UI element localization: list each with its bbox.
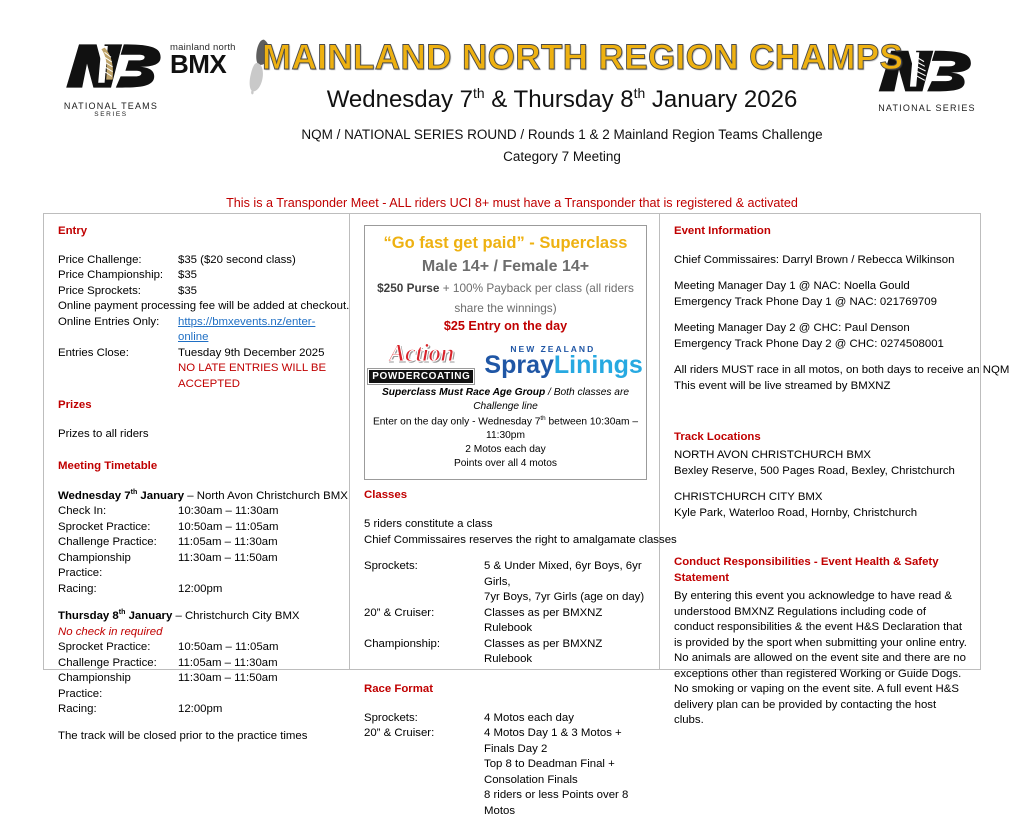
online-entries-row: Online Entries Only: https://bmxevents.n… [58, 315, 337, 346]
race-format-heading: Race Format [364, 682, 647, 698]
superclass-rule-line1: Superclass Must Race Age Group / Both cl… [371, 386, 640, 414]
classes-row: Sprockets: 5 & Under Mixed, 6yr Boys, 6y… [364, 559, 647, 590]
spray-word: Spray [484, 351, 553, 379]
superclass-rule-line3: 2 Motos each day [371, 443, 640, 457]
classes-row: 7yr Boys, 7yr Girls (age on day) [364, 590, 647, 606]
conduct-body: By entering this event you acknowledge t… [674, 589, 968, 729]
classes-row: 20” & Cruiser: Classes as per BMXNZ Rule… [364, 606, 647, 637]
no-late-entries-note: NO LATE ENTRIES WILL BE ACCEPTED [58, 361, 337, 392]
entries-close-label: Entries Close: [58, 346, 178, 362]
action-powdercoating-wordmark: Action [368, 341, 474, 366]
price-challenge-value: $35 ($20 second class) [178, 253, 337, 269]
superclass-rule-line4: Points over all 4 motos [371, 457, 640, 471]
race-format-row: 20” & Cruiser: 4 Motos Day 1 & 3 Motos +… [364, 726, 647, 757]
price-sprockets-value: $35 [178, 284, 337, 300]
day1-challenge-practice-label: Challenge Practice: [58, 535, 178, 551]
classes-row: Championship: Classes as per BMXNZ Ruleb… [364, 637, 647, 668]
linings-word: Linings [554, 351, 643, 379]
online-entries-link[interactable]: https://bmxevents.nz/enter-online [178, 315, 337, 346]
column-superclass-classes: “Go fast get paid” - Superclass Male 14+… [350, 214, 660, 669]
classes-cruiser-label: 20” & Cruiser: [364, 606, 484, 637]
timetable-row: Check In: 10:30am – 11:30am [58, 504, 337, 520]
day2-championship-practice-label: Championship Practice: [58, 671, 178, 702]
prizes-text: Prizes to all riders [58, 427, 337, 443]
day2-heading: Thursday 8th January – Christchurch City… [58, 608, 337, 624]
timetable-row: Sprocket Practice: 10:50am – 11:05am [58, 640, 337, 656]
chief-commissaires: Chief Commissaires: Darryl Brown / Rebec… [674, 253, 968, 269]
price-challenge-label: Price Challenge: [58, 253, 178, 269]
race-format-row: Top 8 to Deadman Final + Consolation Fin… [364, 757, 647, 788]
day2-challenge-practice-label: Challenge Practice: [58, 656, 178, 672]
entry-heading: Entry [58, 224, 337, 240]
track-locations-heading: Track Locations [674, 430, 968, 446]
nqm-note: All riders MUST race in all motos, on bo… [674, 363, 968, 379]
ns-logo-text: NATIONAL SERIES [868, 103, 986, 113]
day1-challenge-practice-value: 11:05am – 11:30am [178, 535, 337, 551]
event-subtitle-line2: Category 7 Meeting [262, 147, 862, 167]
day1-championship-practice-label: Championship Practice: [58, 551, 178, 582]
timetable-heading: Meeting Timetable [58, 459, 337, 475]
livestream-note: This event will be live streamed by BMXN… [674, 379, 968, 395]
timetable-row: Championship Practice: 11:30am – 11:50am [58, 551, 337, 582]
info-table: Entry Price Challenge: $35 ($20 second c… [43, 213, 981, 670]
timetable-row: Sprocket Practice: 10:50am – 11:05am [58, 520, 337, 536]
day2-championship-practice-value: 11:30am – 11:50am [178, 671, 337, 702]
nts-monogram-icon [55, 38, 167, 94]
track1-name: NORTH AVON CHRISTCHURCH BMX [674, 448, 968, 464]
title-block: MAINLAND NORTH REGION CHAMPS Wednesday 7… [262, 40, 862, 166]
classes-sprockets-value-cont: 7yr Boys, 7yr Girls (age on day) [484, 590, 647, 606]
event-dates: Wednesday 7th & Thursday 8th January 202… [262, 85, 862, 114]
day1-championship-practice-value: 11:30am – 11:50am [178, 551, 337, 582]
page-title: MAINLAND NORTH REGION CHAMPS [262, 40, 862, 77]
classes-championship-label: Championship: [364, 637, 484, 668]
event-date-post: January 2026 [645, 86, 797, 113]
sponsor-logos: Action POWDERCOATING NEW ZEALAND SprayLi… [371, 340, 640, 382]
track2-address: Kyle Park, Waterloo Road, Hornby, Christ… [674, 506, 968, 522]
superclass-enter-pre: Enter on the day only - Wednesday 7 [373, 416, 540, 427]
superclass-purse: $250 Purse + 100% Payback per class (all… [371, 281, 640, 296]
event-date-sup1: th [473, 85, 485, 101]
price-sprockets-label: Price Sprockets: [58, 284, 178, 300]
day2-racing-label: Racing: [58, 702, 178, 718]
race-format-value-cont2: 8 riders or less Points over 8 Motos [484, 788, 647, 819]
event-date-sup2: th [634, 85, 646, 101]
track1-address: Bexley Reserve, 500 Pages Road, Bexley, … [674, 464, 968, 480]
classes-line2: Chief Commissaires reserves the right to… [364, 533, 647, 549]
emergency-phone-day1: Emergency Track Phone Day 1 @ NAC: 02176… [674, 295, 968, 311]
nts-logo-text-line1: NATIONAL TEAMS [55, 101, 167, 111]
spray-linings-wordmark: SprayLinings [484, 354, 642, 378]
timetable-row: Challenge Practice: 11:05am – 11:30am [58, 535, 337, 551]
entries-close-row: Entries Close: Tuesday 9th December 2025 [58, 346, 337, 362]
day1-label-post: January [137, 490, 184, 502]
payment-fee-note: Online payment processing fee will be ad… [58, 299, 337, 315]
race-format-row: 8 riders or less Points over 8 Motos [364, 788, 647, 819]
action-powdercoating-subtext: POWDERCOATING [368, 369, 474, 384]
mainland-north-bmx-logo: mainland north BMX [170, 42, 262, 108]
meeting-manager-day1: Meeting Manager Day 1 @ NAC: Noella Goul… [674, 279, 968, 295]
day2-sprocket-practice-value: 10:50am – 11:05am [178, 640, 337, 656]
entry-row: Price Challenge: $35 ($20 second class) [58, 253, 337, 269]
emergency-phone-day2: Emergency Track Phone Day 2 @ CHC: 02745… [674, 337, 968, 353]
race-format-cruiser-label: 20” & Cruiser: [364, 726, 484, 757]
nts-logo-text-line2: SERIES [55, 111, 167, 118]
day2-venue: – Christchurch City BMX [172, 610, 299, 622]
day1-sprocket-practice-value: 10:50am – 11:05am [178, 520, 337, 536]
classes-cruiser-value: Classes as per BMXNZ Rulebook [484, 606, 647, 637]
flyer-page: NATIONAL TEAMS SERIES mainland north BMX [0, 0, 1024, 724]
timetable-row: Championship Practice: 11:30am – 11:50am [58, 671, 337, 702]
superclass-entry-fee: $25 Entry on the day [371, 318, 640, 334]
day1-checkin-value: 10:30am – 11:30am [178, 504, 337, 520]
race-format-cruiser-value: 4 Motos Day 1 & 3 Motos + Finals Day 2 [484, 726, 647, 757]
timetable-row: Challenge Practice: 11:05am – 11:30am [58, 656, 337, 672]
classes-sprockets-label-cont [364, 590, 484, 606]
classes-sprockets-value: 5 & Under Mixed, 6yr Boys, 6yr Girls, [484, 559, 647, 590]
day2-label-post: January [125, 610, 172, 622]
classes-championship-value: Classes as per BMXNZ Rulebook [484, 637, 647, 668]
price-championship-label: Price Championship: [58, 268, 178, 284]
prizes-heading: Prizes [58, 398, 337, 414]
day2-label-pre: Thursday 8 [58, 610, 119, 622]
entries-close-value: Tuesday 9th December 2025 [178, 346, 337, 362]
national-teams-series-logo: NATIONAL TEAMS SERIES [55, 38, 167, 120]
day1-sprocket-practice-label: Sprocket Practice: [58, 520, 178, 536]
superclass-purse-rest: + 100% Payback per class (all riders [439, 281, 633, 295]
event-date-mid: & Thursday 8 [485, 86, 634, 113]
superclass-purse-amount: $250 Purse [377, 281, 439, 295]
day2-no-checkin-note: No check in required [58, 625, 337, 641]
event-date-pre: Wednesday 7 [327, 86, 473, 113]
day1-racing-label: Racing: [58, 582, 178, 598]
day1-racing-value: 12:00pm [178, 582, 337, 598]
classes-line1: 5 riders constitute a class [364, 517, 647, 533]
price-championship-value: $35 [178, 268, 337, 284]
day1-label-pre: Wednesday 7 [58, 490, 131, 502]
track2-name: CHRISTCHURCH CITY BMX [674, 490, 968, 506]
header: NATIONAL TEAMS SERIES mainland north BMX [0, 0, 1024, 180]
classes-heading: Classes [364, 488, 647, 504]
column-event-information: Event Information Chief Commissaires: Da… [660, 214, 980, 669]
day1-venue: – North Avon Christchurch BMX [184, 490, 348, 502]
superclass-box: “Go fast get paid” - Superclass Male 14+… [364, 225, 647, 480]
timetable-row: Racing: 12:00pm [58, 702, 337, 718]
superclass-purse-line2: share the winnings) [371, 301, 640, 316]
superclass-must-race: Superclass Must Race Age Group [382, 387, 545, 398]
day2-racing-value: 12:00pm [178, 702, 337, 718]
day2-sprocket-practice-label: Sprocket Practice: [58, 640, 178, 656]
classes-sprockets-label: Sprockets: [364, 559, 484, 590]
superclass-rule-line2: Enter on the day only - Wednesday 7th be… [371, 415, 640, 444]
entry-row: Price Championship: $35 [58, 268, 337, 284]
race-format-label-cont2 [364, 788, 484, 819]
race-format-label-cont1 [364, 757, 484, 788]
nz-spray-linings-logo: NEW ZEALAND SprayLinings [484, 345, 642, 377]
day1-heading: Wednesday 7th January – North Avon Chris… [58, 488, 337, 504]
track-closed-note: The track will be closed prior to the pr… [58, 729, 337, 745]
timetable-row: Racing: 12:00pm [58, 582, 337, 598]
race-format-value-cont1: Top 8 to Deadman Final + Consolation Fin… [484, 757, 647, 788]
event-subtitle-line1: NQM / NATIONAL SERIES ROUND / Rounds 1 &… [262, 125, 862, 145]
conduct-heading: Conduct Responsibilities - Event Health … [674, 555, 968, 587]
online-entries-label: Online Entries Only: [58, 315, 178, 346]
action-powdercoating-logo: Action POWDERCOATING [368, 341, 474, 381]
column-entry: Entry Price Challenge: $35 ($20 second c… [44, 214, 350, 669]
transponder-notice: This is a Transponder Meet - ALL riders … [0, 196, 1024, 210]
event-info-heading: Event Information [674, 224, 968, 240]
entry-row: Price Sprockets: $35 [58, 284, 337, 300]
day2-challenge-practice-value: 11:05am – 11:30am [178, 656, 337, 672]
meeting-manager-day2: Meeting Manager Day 2 @ CHC: Paul Denson [674, 321, 968, 337]
superclass-subtitle: Male 14+ / Female 14+ [371, 256, 640, 278]
day1-checkin-label: Check In: [58, 504, 178, 520]
superclass-title: “Go fast get paid” - Superclass [371, 234, 640, 254]
